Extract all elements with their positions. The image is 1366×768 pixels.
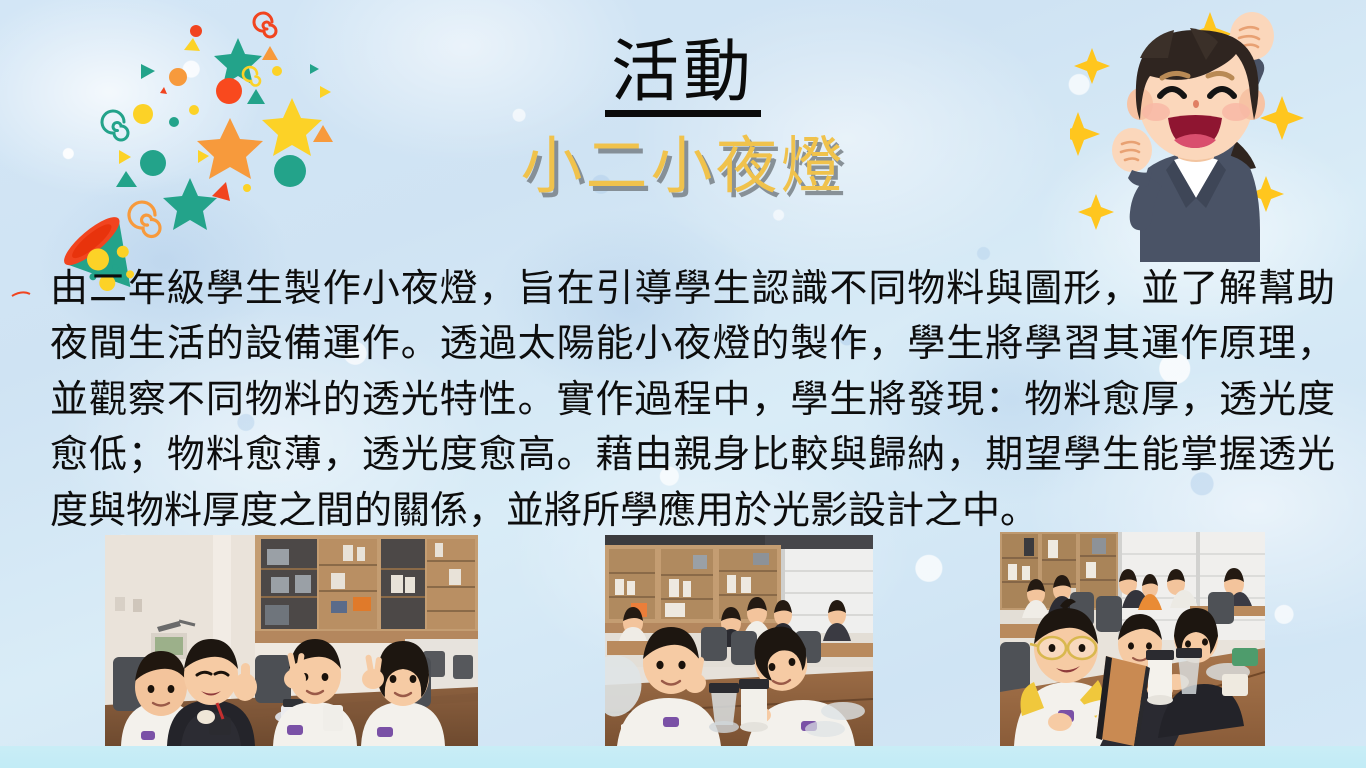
title-block: 活動 小二小夜燈	[0, 38, 1366, 197]
page-subtitle: 小二小夜燈	[0, 135, 1366, 197]
presentation-slide: 活動 小二小夜燈 由二年級學生製作小夜燈，旨在引導學生認識不同物料與圖形，並了解…	[0, 0, 1366, 768]
photo-student-holding-board	[1000, 532, 1265, 746]
photo-students-table-thumbsup	[105, 535, 478, 746]
bottom-accent-band	[0, 746, 1366, 768]
photo-two-students-nightlights	[605, 535, 873, 746]
page-title: 活動	[605, 38, 761, 117]
body-paragraph: 由二年級學生製作小夜燈，旨在引導學生認識不同物料與圖形，並了解幫助夜間生活的設備…	[50, 262, 1335, 539]
